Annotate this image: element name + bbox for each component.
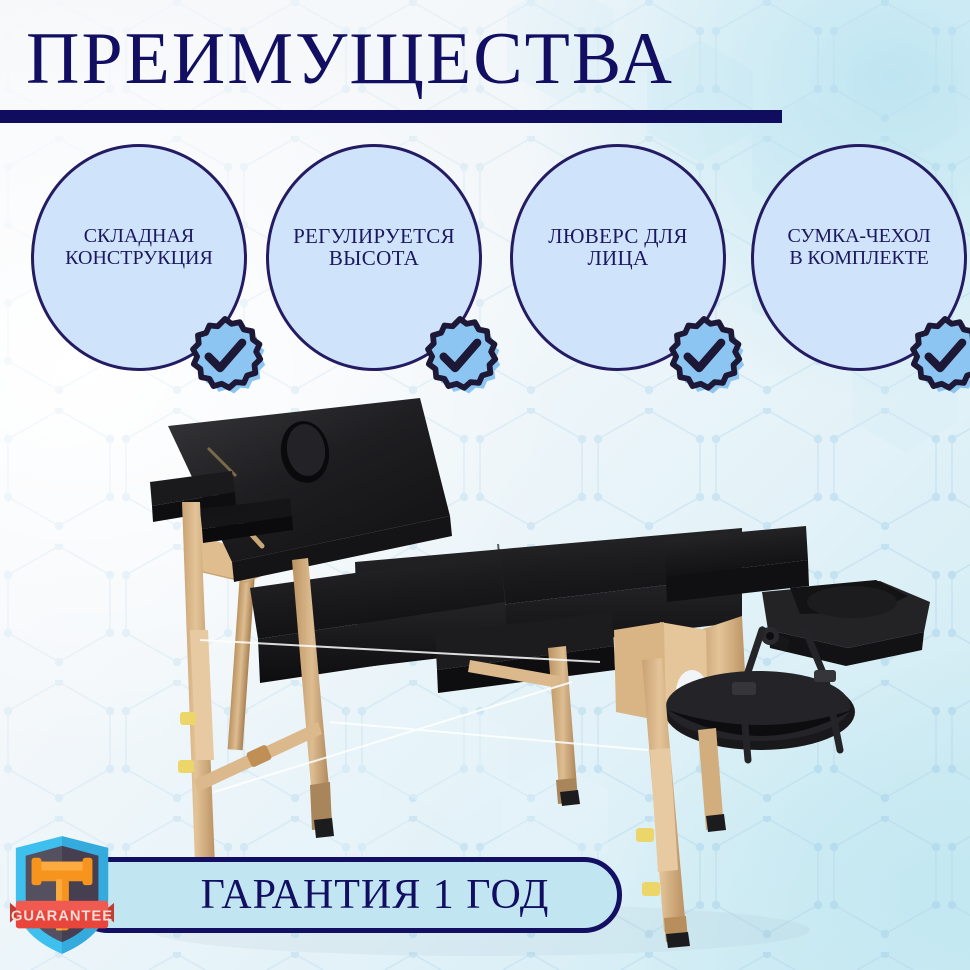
page-title: ПРЕИМУЩЕСТВА (26, 16, 674, 102)
face-cradle (758, 580, 930, 666)
guarantee-shield-gavel-icon: GUARANTEE (8, 832, 116, 958)
feature-label: СКЛАДНАЯ КОНСТРУКЦИЯ (26, 225, 252, 269)
feature-label: СУМКА-ЧЕХОЛ В КОМПЛЕКТЕ (746, 225, 970, 269)
warranty-label: ГАРАНТИЯ 1 ГОД (70, 857, 622, 933)
guarantee-badge-text: GUARANTEE (11, 909, 113, 925)
title-underline-rule (0, 110, 782, 123)
promo-card: ПРЕИМУЩЕСТВА СКЛАДНАЯ КОНСТРУКЦИЯ РЕГУЛИ… (0, 0, 970, 970)
feature-label: РЕГУЛИРУЕТСЯ ВЫСОТА (261, 225, 487, 269)
feature-label: ЛЮВЕРС ДЛЯ ЛИЦА (505, 225, 731, 269)
